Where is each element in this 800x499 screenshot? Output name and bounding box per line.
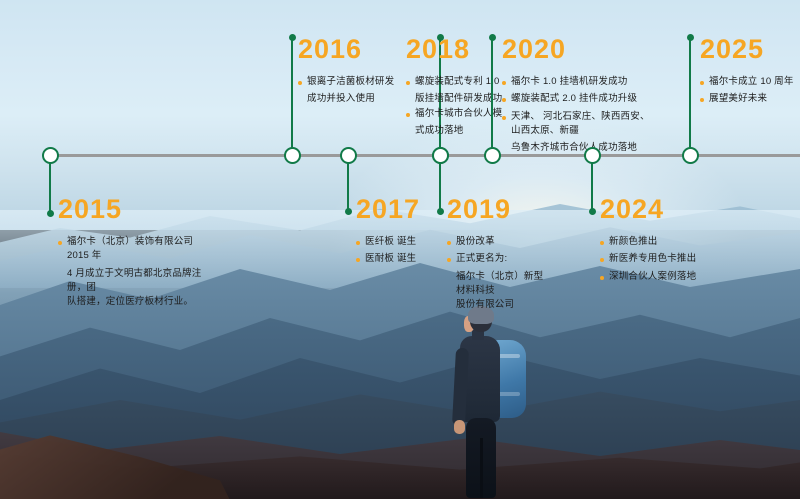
milestone-list-2017: 医纤板 诞生医耐板 诞生 bbox=[356, 235, 451, 270]
timeline-stem-cap-2024 bbox=[589, 208, 596, 215]
milestone-text: 天津、 河北石家庄、陕西西安、山西太原、新疆 bbox=[511, 110, 652, 139]
milestone-text: 股份改革 bbox=[456, 235, 495, 249]
milestone-text: 展望美好未来 bbox=[709, 92, 767, 106]
timeline-infographic: 2015福尔卡（北京）装饰有限公司 2015 年4 月成立于文明古都北京品牌注册… bbox=[0, 0, 800, 499]
milestone-text: 正式更名为: bbox=[456, 252, 507, 266]
milestone-text: 新医养专用色卡推出 bbox=[609, 252, 696, 266]
timeline-marker-2020[interactable] bbox=[484, 147, 501, 164]
milestone-list-2015: 福尔卡（北京）装饰有限公司 2015 年4 月成立于文明古都北京品牌注册，团队搭… bbox=[58, 235, 208, 309]
hiker-hand bbox=[454, 420, 465, 434]
year-label-2020: 2020 bbox=[502, 36, 652, 63]
milestone-item: 医纤板 诞生 bbox=[356, 235, 451, 249]
milestone-text-continued: 福尔卡（北京）新型材料科技 bbox=[447, 270, 552, 299]
bullet-dot-icon bbox=[700, 81, 704, 85]
milestone-text: 银离子洁菌板材研发 bbox=[307, 75, 394, 89]
milestone-item: 螺旋装配式 2.0 挂件成功升级 bbox=[502, 92, 652, 106]
milestone-item: 深圳合伙人案例落地 bbox=[600, 270, 710, 284]
timeline-entry-2020[interactable]: 2020 bbox=[502, 36, 652, 63]
timeline-stem-cap-2017 bbox=[345, 208, 352, 215]
bullet-dot-icon bbox=[502, 98, 506, 102]
year-label-2015: 2015 bbox=[58, 196, 208, 223]
timeline-stem-2020 bbox=[491, 37, 493, 155]
milestone-item: 正式更名为: bbox=[447, 252, 552, 266]
timeline-stem-cap-2025 bbox=[687, 34, 694, 41]
milestone-item: 展望美好未来 bbox=[700, 92, 800, 106]
timeline-entry-2024[interactable]: 2024 bbox=[600, 196, 710, 223]
hiker-figure bbox=[440, 308, 550, 499]
timeline-entry-2025[interactable]: 2025 bbox=[700, 36, 800, 63]
milestone-text: 福尔卡城市合伙人模 bbox=[415, 107, 502, 121]
timeline-marker-2016[interactable] bbox=[284, 147, 301, 164]
milestone-text-continued: 乌鲁木齐城市合伙人成功落地 bbox=[502, 141, 652, 155]
milestone-text: 新颜色推出 bbox=[609, 235, 658, 249]
bullet-dot-icon bbox=[406, 113, 410, 117]
timeline-entry-2015[interactable]: 2015 bbox=[58, 196, 208, 223]
milestone-list-2025: 福尔卡成立 10 周年展望美好未来 bbox=[700, 75, 800, 110]
milestone-text: 医耐板 诞生 bbox=[365, 252, 416, 266]
timeline-marker-2017[interactable] bbox=[340, 147, 357, 164]
milestone-text: 福尔卡成立 10 周年 bbox=[709, 75, 794, 89]
timeline-stem-2016 bbox=[291, 37, 293, 155]
milestone-text-continued: 成功并投入使用 bbox=[298, 92, 398, 106]
year-label-2024: 2024 bbox=[600, 196, 710, 223]
milestone-text-continued: 队搭建，定位医疗板材行业。 bbox=[58, 295, 208, 309]
bullet-dot-icon bbox=[700, 98, 704, 102]
bullet-dot-icon bbox=[406, 81, 410, 85]
milestone-list-2024: 新颜色推出新医养专用色卡推出深圳合伙人案例落地 bbox=[600, 235, 710, 287]
timeline-entry-2019[interactable]: 2019 bbox=[447, 196, 552, 223]
milestone-text: 医纤板 诞生 bbox=[365, 235, 416, 249]
timeline-stem-cap-2015 bbox=[47, 210, 54, 217]
bullet-dot-icon bbox=[600, 276, 604, 280]
milestone-text: 螺旋装配式专利 1.0 bbox=[415, 75, 500, 89]
bullet-dot-icon bbox=[447, 241, 451, 245]
bullet-dot-icon bbox=[58, 241, 62, 245]
milestone-text: 深圳合伙人案例落地 bbox=[609, 270, 696, 284]
milestone-text-continued: 股份有限公司 bbox=[447, 298, 552, 312]
milestone-list-2020: 福尔卡 1.0 挂墙机研发成功螺旋装配式 2.0 挂件成功升级天津、 河北石家庄… bbox=[502, 75, 652, 155]
milestone-text-continued: 4 月成立于文明古都北京品牌注册，团 bbox=[58, 267, 208, 296]
milestone-list-2019: 股份改革正式更名为:福尔卡（北京）新型材料科技股份有限公司 bbox=[447, 235, 552, 312]
milestone-item: 福尔卡（北京）装饰有限公司 2015 年 bbox=[58, 235, 208, 264]
timeline-entry-2016[interactable]: 2016 bbox=[298, 36, 398, 63]
milestone-item: 股份改革 bbox=[447, 235, 552, 249]
bullet-dot-icon bbox=[356, 258, 360, 262]
milestone-text: 螺旋装配式 2.0 挂件成功升级 bbox=[511, 92, 637, 106]
bullet-dot-icon bbox=[600, 258, 604, 262]
timeline-stem-2025 bbox=[689, 37, 691, 155]
bullet-dot-icon bbox=[502, 116, 506, 120]
bullet-dot-icon bbox=[502, 81, 506, 85]
year-label-2019: 2019 bbox=[447, 196, 552, 223]
milestone-item: 新颜色推出 bbox=[600, 235, 710, 249]
bullet-dot-icon bbox=[447, 258, 451, 262]
milestone-item: 福尔卡成立 10 周年 bbox=[700, 75, 800, 89]
timeline-marker-2015[interactable] bbox=[42, 147, 59, 164]
milestone-item: 医耐板 诞生 bbox=[356, 252, 451, 266]
milestone-item: 银离子洁菌板材研发 bbox=[298, 75, 398, 89]
year-label-2016: 2016 bbox=[298, 36, 398, 63]
timeline-marker-2024[interactable] bbox=[584, 147, 601, 164]
hiker-leg-gap bbox=[480, 438, 483, 498]
milestone-item: 天津、 河北石家庄、陕西西安、山西太原、新疆 bbox=[502, 110, 652, 139]
milestone-text: 福尔卡（北京）装饰有限公司 2015 年 bbox=[67, 235, 208, 264]
milestone-text: 福尔卡 1.0 挂墙机研发成功 bbox=[511, 75, 628, 89]
milestone-item: 新医养专用色卡推出 bbox=[600, 252, 710, 266]
bullet-dot-icon bbox=[600, 241, 604, 245]
bullet-dot-icon bbox=[298, 81, 302, 85]
timeline-stem-cap-2016 bbox=[289, 34, 296, 41]
bullet-dot-icon bbox=[356, 241, 360, 245]
timeline-stem-cap-2019 bbox=[437, 208, 444, 215]
timeline-stem-cap-2020 bbox=[489, 34, 496, 41]
milestone-item: 福尔卡 1.0 挂墙机研发成功 bbox=[502, 75, 652, 89]
timeline-marker-2019[interactable] bbox=[432, 147, 449, 164]
milestone-list-2016: 银离子洁菌板材研发成功并投入使用 bbox=[298, 75, 398, 107]
year-label-2025: 2025 bbox=[700, 36, 800, 63]
timeline-marker-2025[interactable] bbox=[682, 147, 699, 164]
